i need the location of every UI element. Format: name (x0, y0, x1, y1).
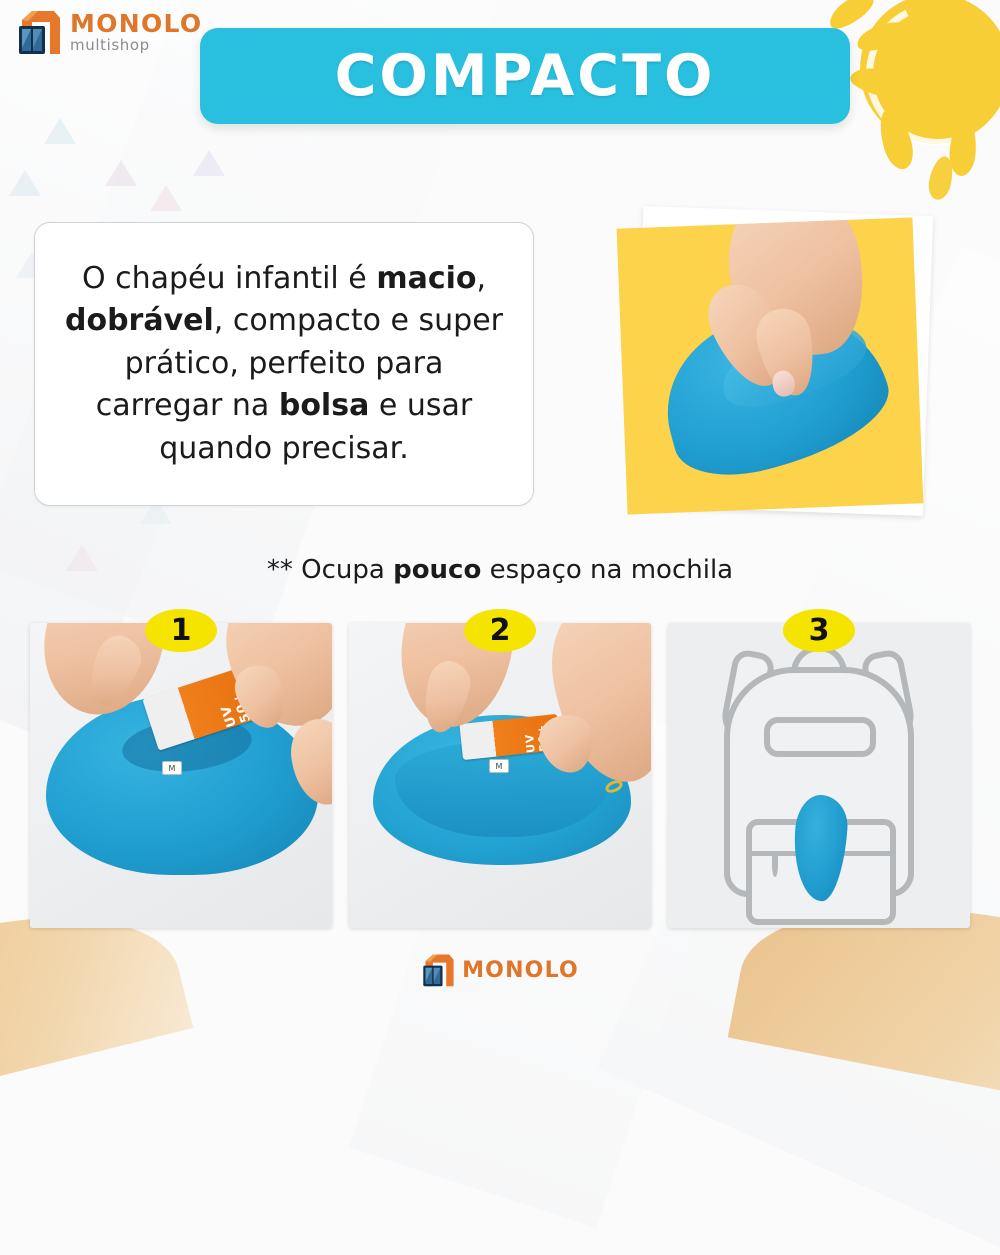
subtitle-note: ** Ocupa pouco espaço na mochila (0, 555, 1000, 585)
brand-wordmark: MONOLO multishop (70, 11, 202, 53)
description-card: O chapéu infantil é macio, dobrável, com… (34, 222, 534, 506)
brand-tagline: multishop (70, 38, 202, 53)
header: MONOLO multishop COMPACTO (0, 0, 1000, 200)
brand-logo-footer[interactable]: MONOLO (421, 952, 579, 988)
hand-holding-hat-photo (617, 217, 924, 514)
backpack-top-pocket (764, 717, 876, 757)
footer-brand-name: MONOLO (462, 958, 579, 983)
steps-row: UV 50+ M 1 UV 50+ M 2 (30, 623, 970, 928)
page-title-banner: COMPACTO (200, 28, 850, 124)
step-1-photo: UV 50+ M (30, 623, 332, 928)
step-item[interactable]: UV 50+ M 1 (30, 623, 332, 928)
brand-name: MONOLO (70, 11, 202, 36)
hero-photo (620, 205, 940, 525)
size-tag: M (162, 761, 182, 775)
step-item[interactable]: UV 50+ M 2 (349, 623, 651, 928)
step-number-badge: 1 (145, 609, 217, 652)
description-text: O chapéu infantil é macio, dobrável, com… (59, 258, 509, 471)
page-title: COMPACTO (335, 43, 716, 109)
step-2-photo: UV 50+ M (349, 623, 651, 928)
step-number-badge: 3 (783, 609, 855, 652)
step-3-illustration (668, 623, 970, 928)
step-number-badge: 2 (464, 609, 536, 652)
monolo-building-logo-icon (421, 952, 455, 988)
backpack-zipper-pull-icon (772, 855, 778, 877)
step-item[interactable]: 3 (668, 623, 970, 928)
size-tag: M (489, 759, 509, 773)
brand-logo-header[interactable]: MONOLO multishop (16, 8, 202, 56)
monolo-building-logo-icon (16, 8, 62, 56)
footer: MONOLO (0, 928, 1000, 1000)
subtitle-text: ** Ocupa pouco espaço na mochila (267, 555, 733, 585)
